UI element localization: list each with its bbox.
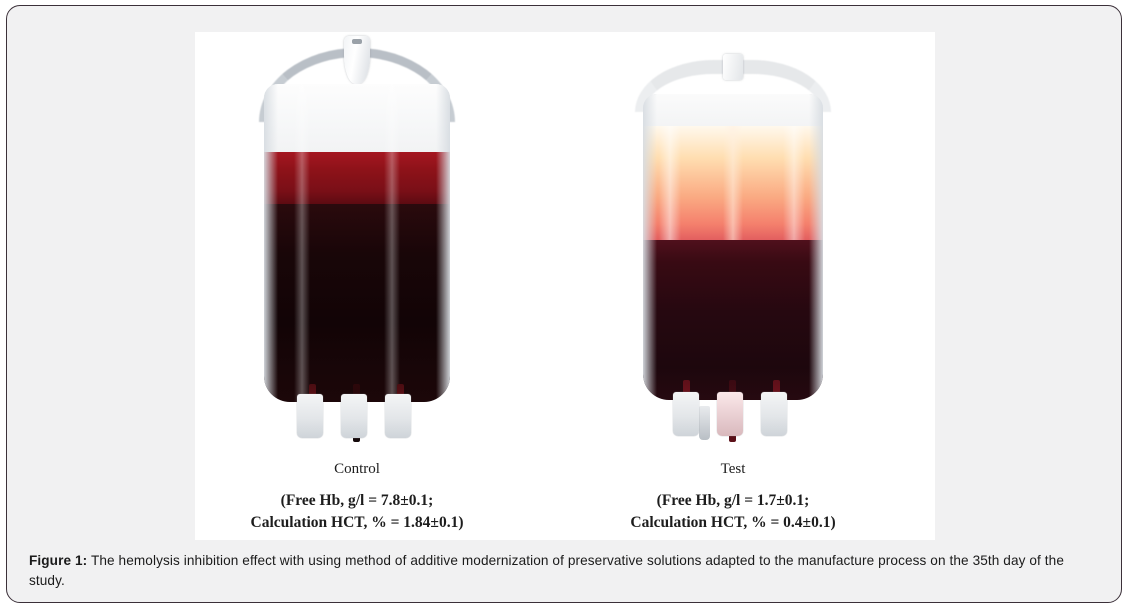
port-right xyxy=(761,392,787,436)
port-right xyxy=(385,394,411,438)
hanger-hole-icon xyxy=(352,39,362,44)
blood-bag-test-photo xyxy=(583,32,883,452)
port-left xyxy=(297,394,323,438)
blood-bag-control-photo xyxy=(207,32,507,452)
figure-panel-control: Control (Free Hb, g/l = 7.8±0.1; Calcula… xyxy=(207,32,507,540)
port-center xyxy=(717,392,743,436)
figure-panel-test: Test (Free Hb, g/l = 1.7±0.1; Calculatio… xyxy=(583,32,883,540)
supernatant-sheen-b xyxy=(723,126,743,240)
panel-stat-free-hb-control: (Free Hb, g/l = 7.8±0.1; xyxy=(207,490,507,512)
panel-stats-control: (Free Hb, g/l = 7.8±0.1; Calculation HCT… xyxy=(207,490,507,534)
port-spike-icon xyxy=(699,406,710,440)
bag-packed-cells-layer-test xyxy=(643,240,823,400)
panel-stat-free-hb-test: (Free Hb, g/l = 1.7±0.1; xyxy=(583,490,883,512)
port-center xyxy=(341,394,367,438)
bag-supernatant-layer-control xyxy=(264,152,450,204)
supernatant-sheen-c xyxy=(783,126,805,240)
panel-stat-hct-test: Calculation HCT, % = 0.4±0.1) xyxy=(583,512,883,534)
hanger-tab-icon xyxy=(723,54,743,80)
figure-caption-text: The hemolysis inhibition effect with usi… xyxy=(29,553,1064,588)
panel-title-control: Control xyxy=(207,460,507,478)
bag-air-layer-control xyxy=(264,84,450,152)
bag-packed-cells-layer-control xyxy=(264,204,450,402)
bag-hanger-control xyxy=(259,36,455,90)
page-frame: Control (Free Hb, g/l = 7.8±0.1; Calcula… xyxy=(6,5,1122,603)
panel-title-test: Test xyxy=(583,460,883,478)
port-left xyxy=(673,392,699,436)
bag-supernatant-layer-test xyxy=(643,126,823,240)
figure-caption-label: Figure 1: xyxy=(29,553,87,568)
bag-body-test xyxy=(643,94,823,400)
bag-air-layer-test xyxy=(643,94,823,126)
bag-ports-control xyxy=(297,388,417,450)
bag-ports-test xyxy=(673,384,793,446)
supernatant-sheen-a xyxy=(659,126,681,240)
panel-stats-test: (Free Hb, g/l = 1.7±0.1; Calculation HCT… xyxy=(583,490,883,534)
panel-stat-hct-control: Calculation HCT, % = 1.84±0.1) xyxy=(207,512,507,534)
bag-body-control xyxy=(264,84,450,402)
figure-image-panel: Control (Free Hb, g/l = 7.8±0.1; Calcula… xyxy=(195,32,935,540)
figure-caption: Figure 1: The hemolysis inhibition effec… xyxy=(29,551,1097,590)
